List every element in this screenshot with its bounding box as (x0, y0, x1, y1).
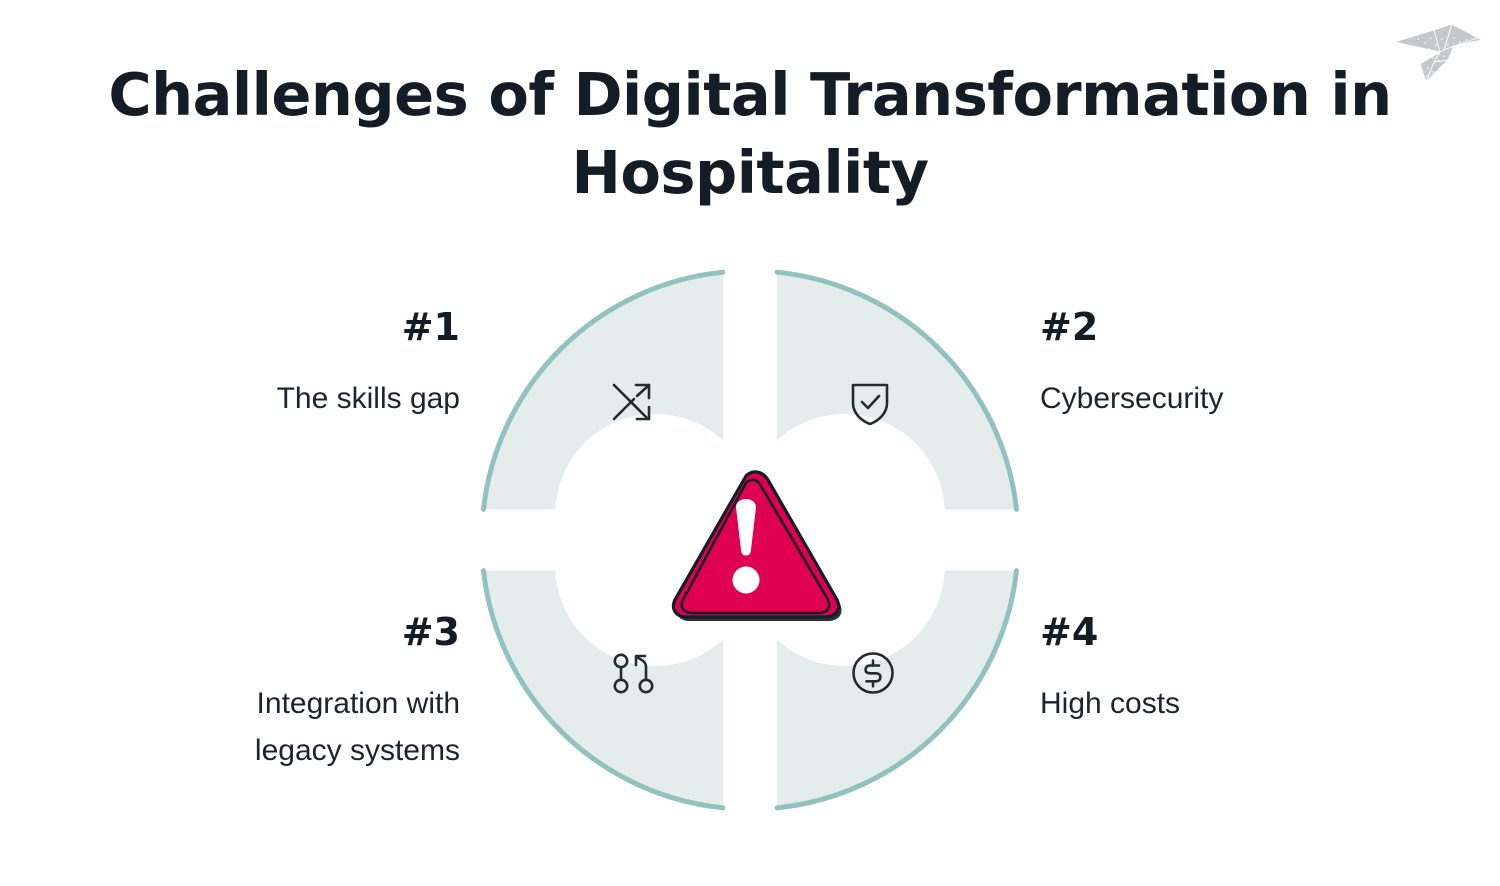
challenge-label-4[interactable]: #4 High costs (1040, 610, 1340, 727)
quadrant-top-left[interactable] (484, 272, 723, 509)
quadrant-top-right[interactable] (777, 272, 1016, 509)
warning-triangle-icon (673, 472, 841, 621)
challenge-number-2: #2 (1040, 305, 1340, 349)
page-title: Challenges of Digital Transformation in … (0, 56, 1500, 212)
challenge-text-2: Cybersecurity (1040, 375, 1340, 422)
challenge-label-2[interactable]: #2 Cybersecurity (1040, 305, 1340, 422)
challenge-number-3: #3 (160, 610, 460, 654)
challenge-label-1[interactable]: #1 The skills gap (160, 305, 460, 422)
challenge-text-1: The skills gap (160, 375, 460, 422)
challenge-text-4: High costs (1040, 680, 1340, 727)
challenge-text-3: Integration with legacy systems (160, 680, 460, 774)
challenge-label-3[interactable]: #3 Integration with legacy systems (160, 610, 460, 774)
challenge-number-1: #1 (160, 305, 460, 349)
challenge-number-4: #4 (1040, 610, 1340, 654)
challenges-donut-diagram (455, 245, 1045, 835)
